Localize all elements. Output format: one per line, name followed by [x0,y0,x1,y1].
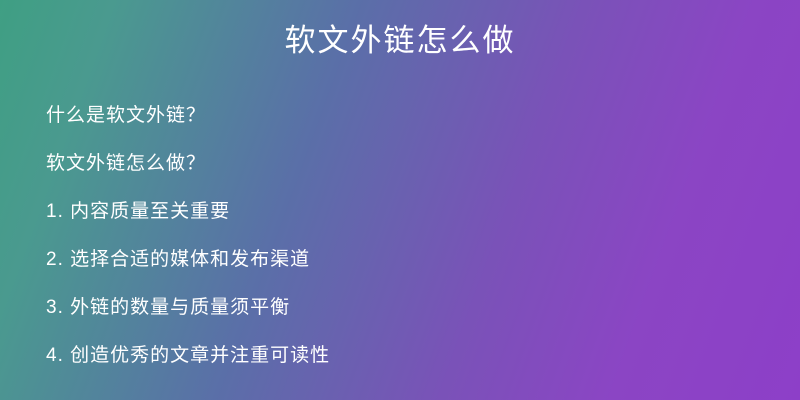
list-item: 1. 内容质量至关重要 [46,188,766,236]
list-item: 软文外链怎么做？ [46,140,766,188]
list-item: 4. 创造优秀的文章并注重可读性 [46,332,766,380]
list-item: 3. 外链的数量与质量须平衡 [46,284,766,332]
page-title: 软文外链怎么做 [0,22,800,59]
list-item: 什么是软文外链？ [46,92,766,140]
list-item: 2. 选择合适的媒体和发布渠道 [46,236,766,284]
content-list: 什么是软文外链？ 软文外链怎么做？ 1. 内容质量至关重要 2. 选择合适的媒体… [46,92,766,380]
slide-canvas: 软文外链怎么做 什么是软文外链？ 软文外链怎么做？ 1. 内容质量至关重要 2.… [0,0,800,400]
